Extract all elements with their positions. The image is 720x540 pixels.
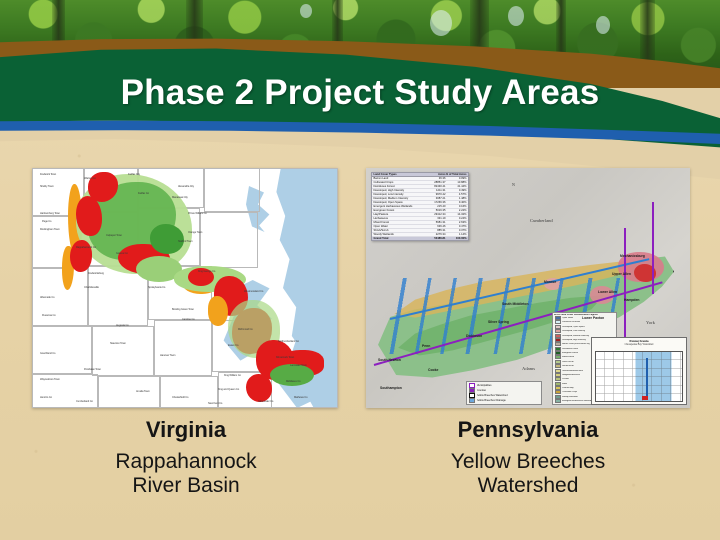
virginia-basin-label: Rappahannock River Basin	[30, 450, 342, 500]
legend-label: Counties	[477, 389, 487, 392]
map-label: Monroe	[544, 280, 556, 284]
map-label: New Kent Co	[208, 402, 222, 405]
table-cell: Herbaceous	[372, 217, 422, 220]
map-label: Warren Co	[84, 177, 96, 180]
table-cell: 82430.41	[422, 185, 446, 188]
map-label: King William Co	[224, 374, 241, 377]
map-label: Orange Town	[188, 231, 202, 234]
map-label: Fredericksburg	[88, 272, 104, 275]
table-cell: 5681.31	[422, 221, 446, 224]
map-label: Lower Paxton	[582, 316, 604, 320]
map-label: Westmoreland Co	[244, 290, 263, 293]
table-cell: Grand Total	[372, 237, 422, 240]
legend-label: Moss	[562, 383, 567, 385]
map-label: Gloucester Co	[258, 400, 273, 403]
map-label: Spotsylvania Co	[148, 286, 165, 289]
legend-label: Developed, Low Intensity	[562, 330, 585, 332]
legend-swatch-counties	[469, 388, 475, 393]
legend-label: Cultivated Crops	[562, 391, 577, 393]
county-label: Adams	[522, 366, 535, 371]
pennsylvania-state-label: Pennsylvania	[368, 418, 688, 443]
legend-label: Sedge/Herbaceous	[562, 374, 580, 376]
legend-swatch-watershed	[469, 393, 475, 398]
map-label: Upper Allen	[612, 272, 631, 276]
table-cell: 1.48%	[446, 197, 469, 200]
map-label: Richmond Co	[238, 328, 253, 331]
map-label: Southampton	[380, 386, 402, 390]
legend-label: Mixed Forest	[562, 356, 574, 358]
map-label: Staunton Town	[110, 342, 126, 345]
table-row: Grand Total53486.81100.00%	[372, 237, 468, 240]
legend-label: Barren Land (Rock/Sand/Clay)	[562, 343, 590, 345]
legend-swatch-municipalities	[469, 383, 475, 388]
landcover-high-density	[70, 240, 92, 272]
map-label: Penn	[422, 344, 430, 348]
pennsylvania-caption: Pennsylvania Yellow Breeches Watershed	[368, 418, 688, 499]
pennsylvania-watershed-line2: Watershed	[478, 474, 579, 497]
legend-label: Developed, Medium Intensity	[562, 335, 589, 337]
slide-canvas: Phase 2 Project Study Areas	[0, 0, 720, 540]
map-label: Prince William Co	[188, 212, 207, 215]
legend-label: Yellow Breeches Watershed	[477, 394, 508, 397]
legend-label: Deciduous Forest	[562, 348, 578, 350]
table-header-cell: % of Total Acres	[446, 173, 469, 176]
slide-title: Phase 2 Project Study Areas	[0, 73, 720, 113]
map-label: Chesterfield Co	[172, 396, 188, 399]
map-label: Fluvanna Co	[42, 314, 56, 317]
pennsylvania-map-image[interactable]: N Land Cover Types Acres % of Total Acre…	[366, 168, 690, 408]
map-label: Lancaster Town	[290, 364, 307, 367]
map-label: Cooke	[428, 368, 438, 372]
map-label: King and Queen Co	[218, 388, 239, 391]
table-cell: Emergent Herbaceous Wetlands	[372, 205, 422, 208]
table-cell: 1211.31	[422, 189, 446, 192]
symbol-legend: Municipalities Counties Yellow Breeches …	[466, 381, 542, 405]
legend-label: Grassland/Herbaceous	[562, 370, 583, 372]
map-label: Greene Co	[116, 252, 128, 255]
table-cell: Barren Land	[372, 177, 422, 180]
map-label: Shelby Town	[40, 185, 54, 188]
table-cell: 885.31	[422, 229, 446, 232]
table-cell: 0.37%	[446, 229, 469, 232]
map-label: Cumberland Co	[76, 400, 93, 403]
table-cell: Developed, High Intensity	[372, 189, 422, 192]
legend-swatch-drainage	[469, 398, 475, 403]
map-label: Essex Co	[228, 344, 238, 347]
table-cell: Woody Wetlands	[372, 233, 422, 236]
table-cell: 13.88%	[446, 181, 469, 184]
map-label: Mathews Co	[294, 396, 307, 399]
virginia-basin-line1: Rappahannock	[115, 450, 256, 473]
table-cell: Mixed Forest	[372, 221, 422, 224]
table-cell: 0.16%	[446, 205, 469, 208]
table-cell: 17266.36	[422, 201, 446, 204]
table-cell: 1.14%	[446, 233, 469, 236]
map-label: Goochland Co	[40, 352, 55, 355]
legend-label: Woody Wetlands	[562, 396, 578, 398]
map-label: Stafford Town	[178, 240, 192, 243]
map-label: Mechanicsburg	[620, 254, 645, 258]
map-label: Dickinson	[466, 334, 482, 338]
landcover-medium	[208, 296, 228, 326]
map-label: Fairfax City	[128, 173, 140, 176]
map-label: Page Co	[42, 220, 51, 223]
table-cell: 5016.35	[422, 209, 446, 212]
map-label: Lower Allen	[598, 290, 617, 294]
map-label: Middlesex Co	[286, 380, 301, 383]
virginia-caption: Virginia Rappahannock River Basin	[30, 418, 342, 499]
map-label: Fairfax Co	[138, 192, 149, 195]
table-cell: Shrub/Scrub	[372, 229, 422, 232]
map-label: Rappahannock Co	[76, 246, 96, 249]
table-body: Barren Land36.360.09%Cultivated Crops288…	[372, 177, 468, 240]
map-label: Silver Spring	[488, 320, 509, 324]
table-cell: Developed, Medium Intensity	[372, 197, 422, 200]
table-cell: 9.40%	[446, 201, 469, 204]
inset-subtitle: Chesapeake Bay Watershed	[592, 343, 686, 346]
map-label: Alexandria City	[178, 185, 194, 188]
map-label: Amelia Town	[136, 390, 150, 393]
table-cell: 28851.37	[422, 181, 446, 184]
legend-label: Evergreen Forest	[562, 352, 578, 354]
legend-label: Open Water	[562, 317, 573, 319]
compass-rose: N	[512, 182, 515, 187]
legend-label: Shrub/Scrub	[562, 365, 574, 367]
legend-label: Developed, Open Space	[562, 326, 585, 328]
table-cell: 2276.34	[422, 233, 446, 236]
map-label: Northumberland Co	[278, 340, 299, 343]
table-cell: 636.46	[422, 225, 446, 228]
table-cell: Developed, Low Intensity	[372, 193, 422, 196]
pennsylvania-inset-map: Pennsylvania Chesapeake Bay Watershed	[591, 337, 687, 405]
table-cell: 0.09%	[446, 177, 469, 180]
map-label: Powhatan Town	[84, 368, 101, 371]
map-label: Hanover Town	[160, 354, 175, 357]
pennsylvania-watershed-line1: Yellow Breeches	[451, 450, 606, 473]
table-cell: Hay/Pasture	[372, 213, 422, 216]
table-cell: 331.19	[422, 217, 446, 220]
table-cell: 0.24%	[446, 217, 469, 220]
map-label: Kilmarnock Town	[276, 356, 294, 359]
table-cell: Open Water	[372, 225, 422, 228]
table-cell: 2.63%	[446, 221, 469, 224]
county-label: York	[646, 320, 655, 325]
map-label: Frederick Town	[40, 173, 56, 176]
map-label: Albemarle Co	[40, 296, 55, 299]
table-cell: Evergreen Forest	[372, 209, 422, 212]
map-label: South Newton	[378, 358, 401, 362]
county-label: Cumberland	[530, 218, 553, 223]
virginia-map-image[interactable]: Frederick Town Shelby Town Warren Co Fai…	[32, 168, 338, 408]
table-cell: 29412.34	[422, 213, 446, 216]
table-cell: 53486.81	[422, 237, 446, 240]
map-label: Charlottesville	[84, 286, 99, 289]
legend-label: Emergent Herbaceous Wetlands	[562, 400, 592, 402]
map-label: South Middleton	[502, 302, 529, 306]
map-label: Caroline Co	[182, 318, 195, 321]
legend-swatch	[555, 399, 561, 403]
virginia-state-label: Virginia	[30, 418, 342, 443]
map-label: Augusta Co	[116, 324, 129, 327]
landcover-high-density	[246, 374, 272, 402]
legend-label: Developed, High Intensity	[562, 339, 586, 341]
map-label: King George Co	[198, 270, 215, 273]
table-cell: 14.32%	[446, 213, 469, 216]
table-cell: 0.47%	[446, 225, 469, 228]
virginia-basin-line2: River Basin	[132, 474, 239, 497]
map-label: Hampden	[624, 298, 639, 302]
legend-label: Municipalities	[477, 384, 492, 387]
table-cell: Developed, Open Space	[372, 201, 422, 204]
table-header-cell: Acres	[422, 173, 446, 176]
map-label: Henrico Co	[40, 396, 52, 399]
table-cell: 36.36	[422, 177, 446, 180]
landcover-forest	[150, 224, 184, 254]
table-cell: 100.00%	[446, 237, 469, 240]
landcover-acreage-table: Land Cover Types Acres % of Total Acres …	[371, 172, 469, 241]
table-cell: Cultivated Crops	[372, 181, 422, 184]
map-label: Rockingham Town	[40, 228, 60, 231]
table-cell: 4.57%	[446, 193, 469, 196]
pennsylvania-watershed-label: Yellow Breeches Watershed	[368, 450, 688, 500]
legend-label: Dwarf Scrub	[562, 361, 573, 363]
county-boundary-line	[652, 202, 654, 294]
table-cell: Deciduous Forest	[372, 185, 422, 188]
table-cell: 215.40	[422, 205, 446, 208]
table-cell: 41.44%	[446, 185, 469, 188]
map-label: Manassas City	[172, 196, 188, 199]
map-label: Culpeper Town	[106, 234, 122, 237]
map-label: Harrisonburg Town	[40, 212, 60, 215]
map-label: Waynesboro Town	[40, 378, 60, 381]
legend-label: Perennial Ice/Snow	[562, 321, 580, 323]
legend-label: Yellow Breeches Drainage	[477, 399, 506, 402]
legend-label: Lichens	[562, 378, 569, 380]
legend-label: Pasture/Hay	[562, 387, 573, 389]
table-cell: 2.22%	[446, 209, 469, 212]
table-cell: 0.49%	[446, 189, 469, 192]
table-cell: 9970.42	[422, 193, 446, 196]
table-header-cell: Land Cover Types	[372, 173, 422, 176]
map-label: Bowling Green Town	[172, 308, 194, 311]
table-cell: 3087.21	[422, 197, 446, 200]
